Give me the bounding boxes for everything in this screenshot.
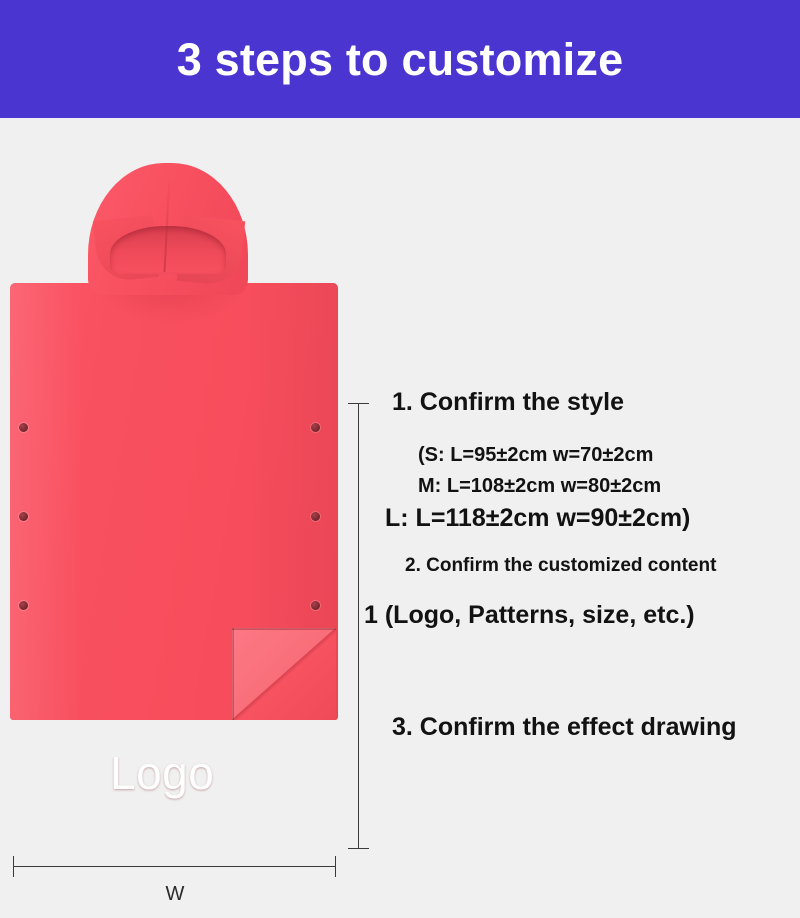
height-dimension-cap-top [348,403,369,404]
size-spec-large: L: L=118±2cm w=90±2cm) [385,506,690,531]
snap-button [19,512,28,521]
width-dimension-line [13,866,336,867]
snap-button [311,423,320,432]
page-title: 3 steps to customize [177,37,624,82]
logo-placeholder-text: Logo [110,750,214,796]
height-dimension-cap-bottom [348,848,369,849]
height-dimension-line [358,403,359,848]
folded-corner-flap [232,628,336,720]
step-2-detail: 1 (Logo, Patterns, size, etc.) [364,603,695,628]
width-dimension-cap-right [335,856,336,877]
step-3-title: 3. Confirm the effect drawing [392,715,736,740]
snap-button [311,601,320,610]
instruction-list: 1. Confirm the style (S: L=95±2cm w=70±2… [380,118,800,918]
snap-button [311,512,320,521]
folded-corner-top-edge [232,628,336,630]
product-illustration: Logo W [0,118,380,800]
step-1-title: 1. Confirm the style [392,390,624,415]
content-stage: Logo W 1. Confirm the style (S: L=95±2cm… [0,118,800,800]
size-spec-medium: M: L=108±2cm w=80±2cm [418,476,661,496]
hood-opening [110,226,226,274]
width-dimension-cap-left [13,856,14,877]
size-spec-small: (S: L=95±2cm w=70±2cm [418,445,653,465]
header-banner: 3 steps to customize [0,0,800,118]
folded-corner-left-edge [232,628,234,720]
snap-button [19,601,28,610]
step-2-title: 2. Confirm the customized content [405,556,716,575]
width-dimension-label: W [0,884,350,904]
snap-button [19,423,28,432]
